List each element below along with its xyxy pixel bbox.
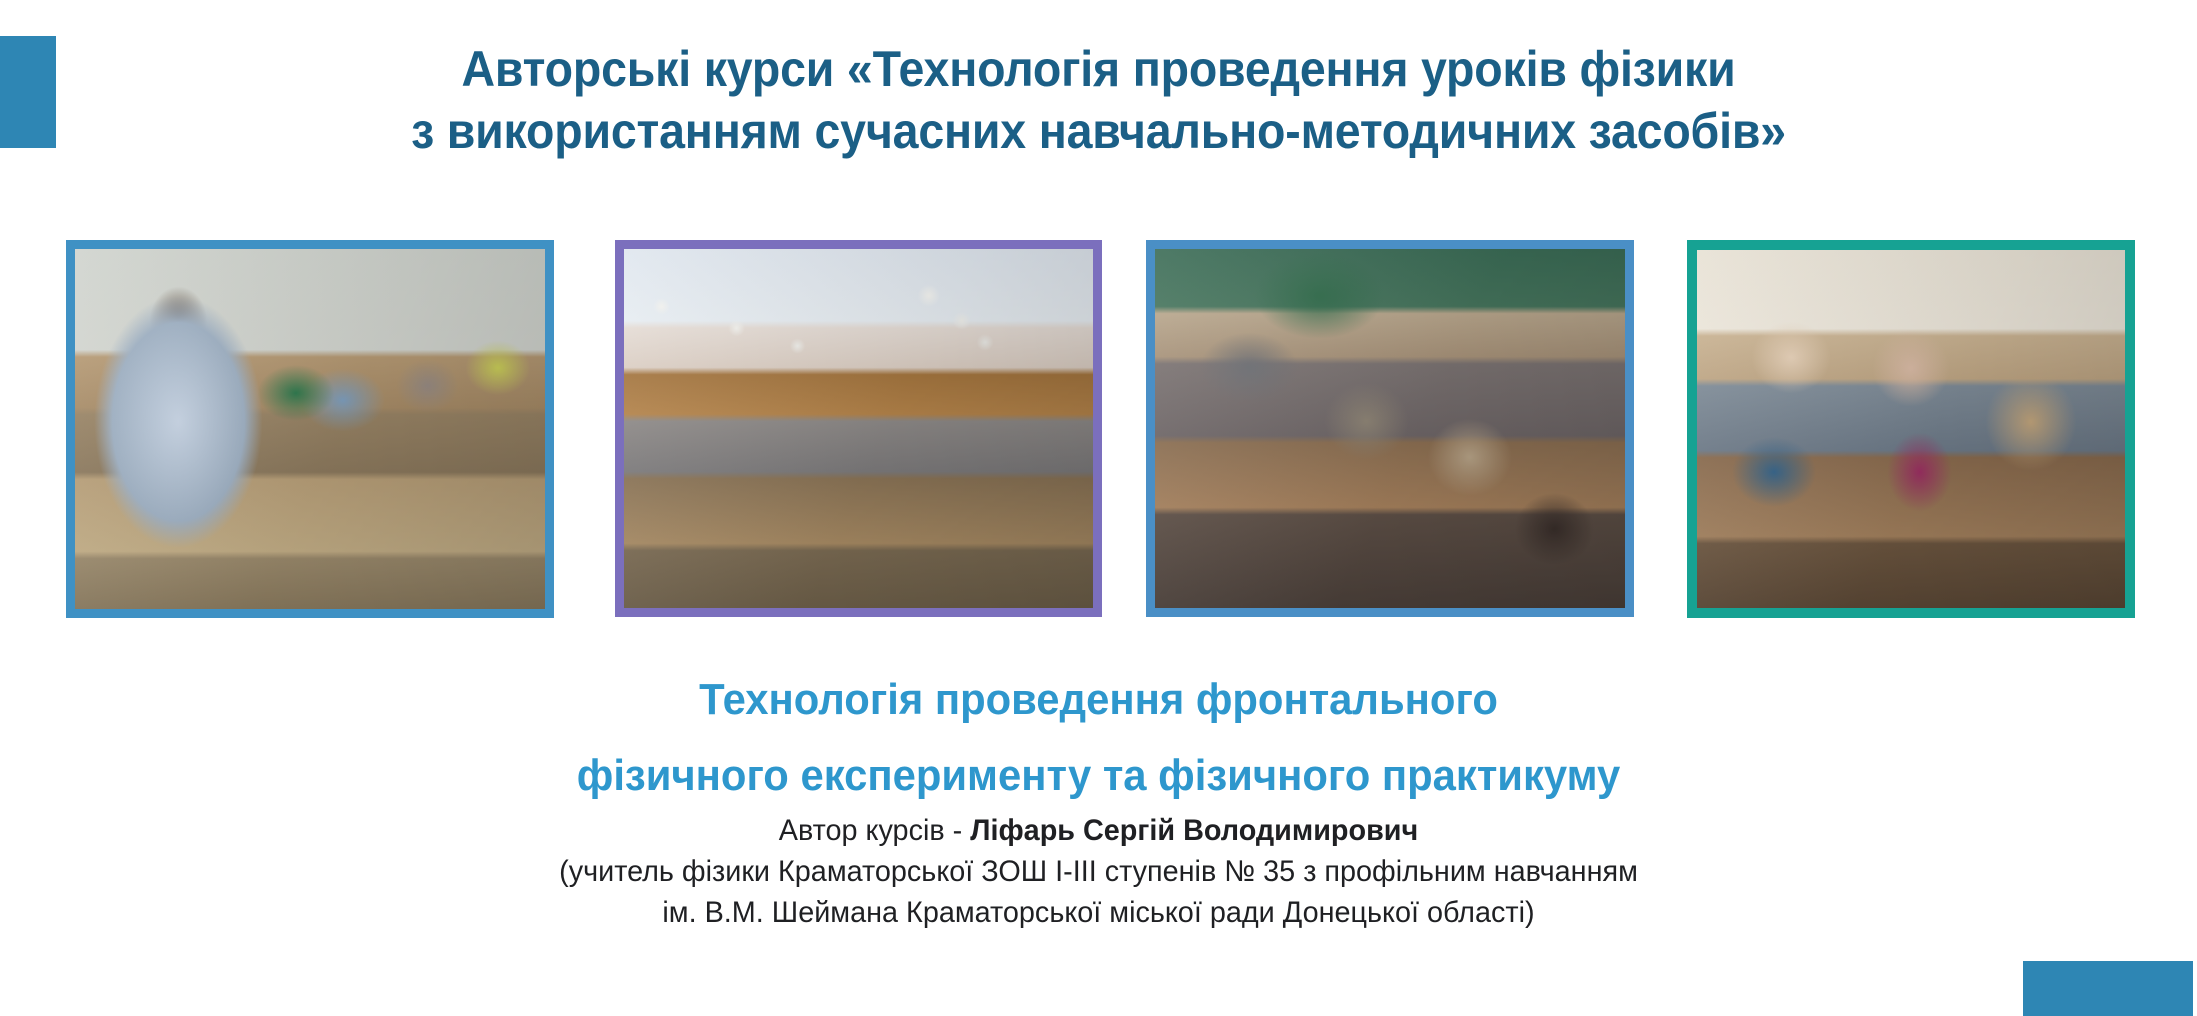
- photo-4-scene: [1697, 250, 2125, 608]
- photo-3-scene: [1155, 249, 1625, 608]
- photo-1: [66, 240, 554, 618]
- slide-title-line-2: з використанням сучасних навчально-метод…: [77, 100, 2120, 162]
- slide-subtitle: Технологія проведення фронтального фізич…: [0, 662, 2197, 814]
- author-name: Ліфарь Сергій Володимирович: [970, 814, 1418, 847]
- photo-2: [615, 240, 1102, 617]
- photo-strip: [0, 240, 2197, 620]
- author-credit-line-1: Автор курсів - Ліфарь Сергій Володимиров…: [44, 810, 2153, 851]
- slide-title: Авторські курси «Технологія проведення у…: [0, 38, 2197, 162]
- photo-3-image: [1155, 249, 1625, 608]
- slide-title-line-1: Авторські курси «Технологія проведення у…: [77, 38, 2120, 100]
- author-credit-line-2: (учитель фізики Краматорської ЗОШ І-ІІІ …: [44, 851, 2153, 892]
- author-credit: Автор курсів - Ліфарь Сергій Володимиров…: [0, 810, 2197, 933]
- slide-subtitle-line-2: фізичного експерименту та фізичного прак…: [55, 738, 2142, 814]
- slide-subtitle-line-1: Технологія проведення фронтального: [55, 662, 2142, 738]
- photo-2-scene: [624, 249, 1093, 608]
- decor-block-bottom-right: [2023, 961, 2193, 1016]
- photo-4: [1687, 240, 2135, 618]
- photo-1-scene: [75, 249, 545, 609]
- author-credit-prefix: Автор курсів -: [779, 814, 970, 847]
- author-credit-line-3: ім. В.М. Шеймана Краматорської міської р…: [44, 892, 2153, 933]
- photo-3: [1146, 240, 1634, 617]
- photo-1-image: [75, 249, 545, 609]
- photo-4-image: [1697, 250, 2125, 608]
- photo-2-image: [624, 249, 1093, 608]
